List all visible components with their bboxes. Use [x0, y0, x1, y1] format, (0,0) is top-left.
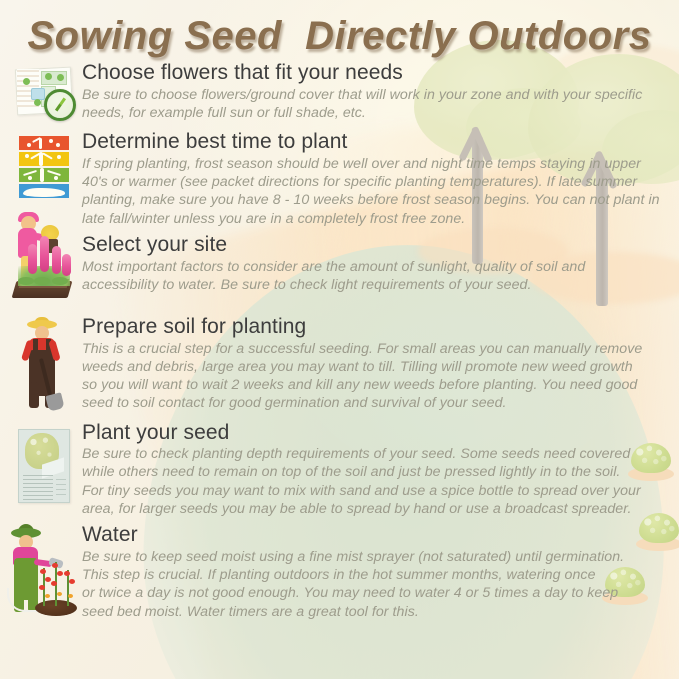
season-bar-autumn — [19, 136, 69, 150]
step-heading: Choose flowers that fit your needs — [82, 62, 669, 85]
step-body: Be sure to check planting depth requirem… — [82, 445, 669, 518]
list-item: Water Be sure to keep seed moist using a… — [0, 524, 679, 621]
red-bloom — [69, 579, 75, 584]
gardener-watering-icon — [5, 528, 77, 616]
twig — [39, 138, 42, 149]
step-icon-slot — [8, 131, 80, 198]
orange-bud — [57, 592, 62, 596]
step-icon-slot — [8, 422, 80, 503]
plan-tree-dot — [34, 99, 41, 106]
worker-with-shovel-icon — [15, 320, 73, 412]
compass-icon — [44, 89, 76, 121]
plan-tree-dot — [45, 73, 52, 80]
body-line: accessibility to water. Be sure to check… — [82, 276, 669, 294]
step-text: Select your site Most important factors … — [80, 234, 669, 294]
body-line: or twice a day is not good enough. You m… — [82, 584, 669, 602]
list-item: Prepare soil for planting This is a cruc… — [0, 316, 679, 413]
leaf-dot — [54, 176, 58, 180]
body-line: This step is crucial. If planting outdoo… — [82, 566, 669, 584]
body-line: seed to soil contact for good germinatio… — [82, 394, 669, 412]
twig — [40, 168, 44, 182]
body-line: needs, for example full sun or full shad… — [82, 104, 669, 122]
season-bar-winter — [19, 184, 69, 198]
step-text: Plant your seed Be sure to check plantin… — [80, 422, 669, 519]
red-bloom — [64, 571, 70, 576]
body-line: 40's or warmer (see packet directions fo… — [82, 173, 669, 191]
four-seasons-bars-icon — [19, 136, 69, 198]
leaf — [34, 277, 50, 285]
seed-packet-icon — [18, 429, 70, 503]
gardener-with-flowers-icon — [12, 212, 76, 298]
plan-tree-dot — [23, 78, 30, 85]
body-line: For tiny seeds you may want to mix with … — [82, 482, 669, 500]
body-line: Be sure to choose flowers/ground cover t… — [82, 86, 669, 104]
step-heading: Select your site — [82, 234, 669, 257]
step-text: Prepare soil for planting This is a cruc… — [80, 316, 669, 413]
season-bar-spring — [19, 152, 69, 166]
step-icon-slot — [8, 524, 80, 616]
red-bloom — [57, 571, 63, 576]
infographic-poster: Sowing Seed Directly Outdoors — [0, 0, 679, 679]
body-line: planting, make sure you have 8 - 10 week… — [82, 191, 669, 209]
garden-plan-compass-icon — [14, 66, 74, 118]
foxglove-spike — [62, 254, 71, 276]
orange-bud — [45, 594, 50, 598]
leaf-dot — [28, 176, 32, 180]
body-line: seed bed moist. Water timers are a great… — [82, 603, 669, 621]
step-body: Most important factors to consider are t… — [82, 258, 669, 295]
step-icon-slot — [8, 62, 80, 118]
step-text: Determine best time to plant If spring p… — [80, 131, 669, 228]
list-item: Determine best time to plant If spring p… — [0, 131, 679, 228]
step-body: If spring planting, frost season should … — [82, 155, 669, 228]
body-line: late fall/winter unless you are in a com… — [82, 210, 669, 228]
plan-tree-dot — [57, 74, 64, 81]
list-item: Plant your seed Be sure to check plantin… — [0, 422, 679, 519]
leaf-dot — [49, 139, 53, 143]
packet-text-lines — [56, 477, 66, 495]
step-body: Be sure to keep seed moist using a fine … — [82, 548, 669, 621]
compass-needle — [54, 97, 65, 111]
step-body: Be sure to choose flowers/ground cover t… — [82, 86, 669, 123]
step-body: This is a crucial step for a successful … — [82, 340, 669, 413]
leaf — [18, 277, 34, 285]
body-line: Be sure to check planting depth requirem… — [82, 445, 669, 463]
shovel-blade — [45, 392, 64, 411]
step-heading: Water — [82, 524, 669, 547]
foxglove-spike — [52, 246, 61, 274]
leaf-dot — [25, 154, 29, 158]
body-line: If spring planting, frost season should … — [82, 155, 669, 173]
twig — [42, 153, 53, 160]
step-icon-slot — [8, 316, 80, 412]
page-title: Sowing Seed Directly Outdoors — [0, 14, 679, 59]
step-heading: Determine best time to plant — [82, 131, 669, 154]
list-item: Choose flowers that fit your needs Be su… — [0, 62, 679, 122]
body-line: area, for larger seeds you may be able t… — [82, 500, 669, 518]
list-item: Select your site Most important factors … — [0, 234, 679, 298]
body-line: so you will want to wait 2 weeks and kil… — [82, 376, 669, 394]
body-line: This is a crucial step for a successful … — [82, 340, 669, 358]
red-bloom — [45, 577, 51, 582]
leaf-dot — [27, 143, 31, 147]
step-heading: Prepare soil for planting — [82, 316, 669, 339]
packet-text-lines — [23, 474, 53, 500]
step-icon-slot — [8, 234, 80, 298]
season-bar-summer — [19, 168, 69, 182]
body-line: weeds and debris, large area you may wan… — [82, 358, 669, 376]
step-text: Water Be sure to keep seed moist using a… — [80, 524, 669, 621]
snow-drift — [23, 188, 65, 197]
body-line: Most important factors to consider are t… — [82, 258, 669, 276]
foxglove-spike — [40, 236, 49, 272]
leaf-dot — [57, 155, 61, 159]
body-line: while others need to remain on top of th… — [82, 463, 669, 481]
step-heading: Plant your seed — [82, 422, 669, 445]
leaf-dot — [56, 143, 60, 147]
worker-leg — [29, 382, 39, 408]
step-text: Choose flowers that fit your needs Be su… — [80, 62, 669, 122]
body-line: Be sure to keep seed moist using a fine … — [82, 548, 669, 566]
orange-bud — [68, 594, 73, 598]
foxglove-spike — [28, 244, 37, 274]
leaf — [52, 277, 68, 285]
red-bloom — [40, 569, 46, 574]
steps-list: Choose flowers that fit your needs Be su… — [0, 62, 679, 621]
